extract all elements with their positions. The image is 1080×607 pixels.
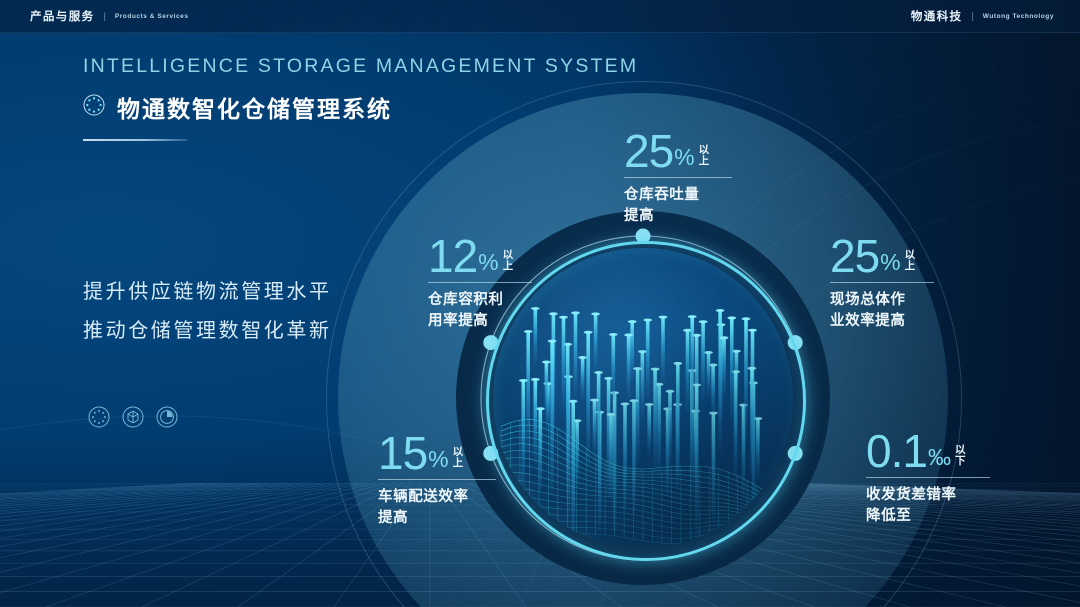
stat-rule [378,479,496,480]
stat-qualifier-line2: 上 [699,156,710,167]
stat-value-row: 25 % 以 上 [830,235,934,277]
top-header-bar: 产品与服务 | Products & Services 物通科技 | Wuton… [0,0,1080,33]
stat-warehouse-throughput[interactable]: 25 % 以 上 仓库吞吐量 提高 [624,130,732,226]
stat-unit: ‰ [928,446,951,472]
lede-paragraph: 提升供应链物流管理水平 推动仓储管理数智化革新 [83,272,332,350]
header-right-group[interactable]: 物通科技 | Wutong Technology [911,8,1054,24]
stat-description: 仓库容积利 用率提高 [428,289,532,331]
lede-line-1: 提升供应链物流管理水平 [83,272,332,311]
page-title-chinese: 物通数智化仓储管理系统 [117,90,392,124]
stat-value-row: 0.1 ‰ 以 下 [866,430,990,472]
stat-rule [830,282,934,283]
stat-qualifier: 以 上 [905,250,916,278]
stat-unit: % [428,448,448,474]
stat-value: 12 [428,235,477,277]
stat-qualifier: 以 上 [699,145,710,173]
slide-root: 产品与服务 | Products & Services 物通科技 | Wuton… [0,0,1080,607]
stat-value: 25 [624,130,673,172]
stat-unit: % [880,251,900,277]
page-title-english: INTELLIGENCE STORAGE MANAGEMENT SYSTEM [83,55,638,78]
stat-rule [428,282,532,283]
stat-warehouse-volume-utilization[interactable]: 12 % 以 上 仓库容积利 用率提高 [428,235,532,331]
decorative-icon-group [88,406,178,428]
stat-description: 现场总体作 业效率提高 [830,289,934,331]
dotted-circle-icon [88,406,110,428]
stat-onsite-operation-efficiency[interactable]: 25 % 以 上 现场总体作 业效率提高 [830,235,934,331]
stat-rule [624,177,732,178]
stat-qualifier: 以 下 [955,445,966,473]
stat-qualifier-line2: 上 [503,261,514,272]
stat-description: 车辆配送效率 提高 [378,486,496,528]
stat-value-row: 15 % 以 上 [378,432,496,474]
stat-qualifier-line2: 下 [955,456,966,467]
stat-vehicle-delivery-efficiency[interactable]: 15 % 以 上 车辆配送效率 提高 [378,432,496,528]
stat-shipping-error-rate[interactable]: 0.1 ‰ 以 下 收发货差错率 降低至 [866,430,990,526]
stat-qualifier-line2: 上 [453,458,464,469]
stat-value: 25 [830,235,879,277]
page-title-row: 物通数智化仓储管理系统 [83,90,638,124]
pie-progress-icon [156,406,178,428]
cube-icon [122,406,144,428]
title-divider [83,139,187,141]
stat-value-row: 12 % 以 上 [428,235,532,277]
lede-line-2: 推动仓储管理数智化革新 [83,311,332,350]
stat-value: 15 [378,432,427,474]
stat-qualifier: 以 上 [503,250,514,278]
company-name-cn: 物通科技 [911,8,963,24]
globe-main-ring [486,241,806,561]
stat-value-row: 25 % 以 上 [624,130,732,172]
company-name-en: Wutong Technology [983,13,1054,20]
header-left-separator: | [104,11,106,21]
stat-description: 仓库吞吐量 提高 [624,184,732,226]
header-section-title-cn: 产品与服务 [30,8,95,24]
stat-unit: % [478,251,498,277]
stat-rule [866,477,990,478]
stat-description: 收发货差错率 降低至 [866,484,990,526]
header-left-group[interactable]: 产品与服务 | Products & Services [30,8,189,24]
dotted-circle-icon [83,94,105,121]
stat-value: 0.1 [866,430,927,472]
stat-qualifier: 以 上 [453,447,464,475]
header-right-separator: | [971,11,973,21]
header-section-title-en: Products & Services [115,13,189,20]
stat-qualifier-line2: 上 [905,261,916,272]
stat-unit: % [674,146,694,172]
title-block: INTELLIGENCE STORAGE MANAGEMENT SYSTEM 物… [83,55,638,141]
